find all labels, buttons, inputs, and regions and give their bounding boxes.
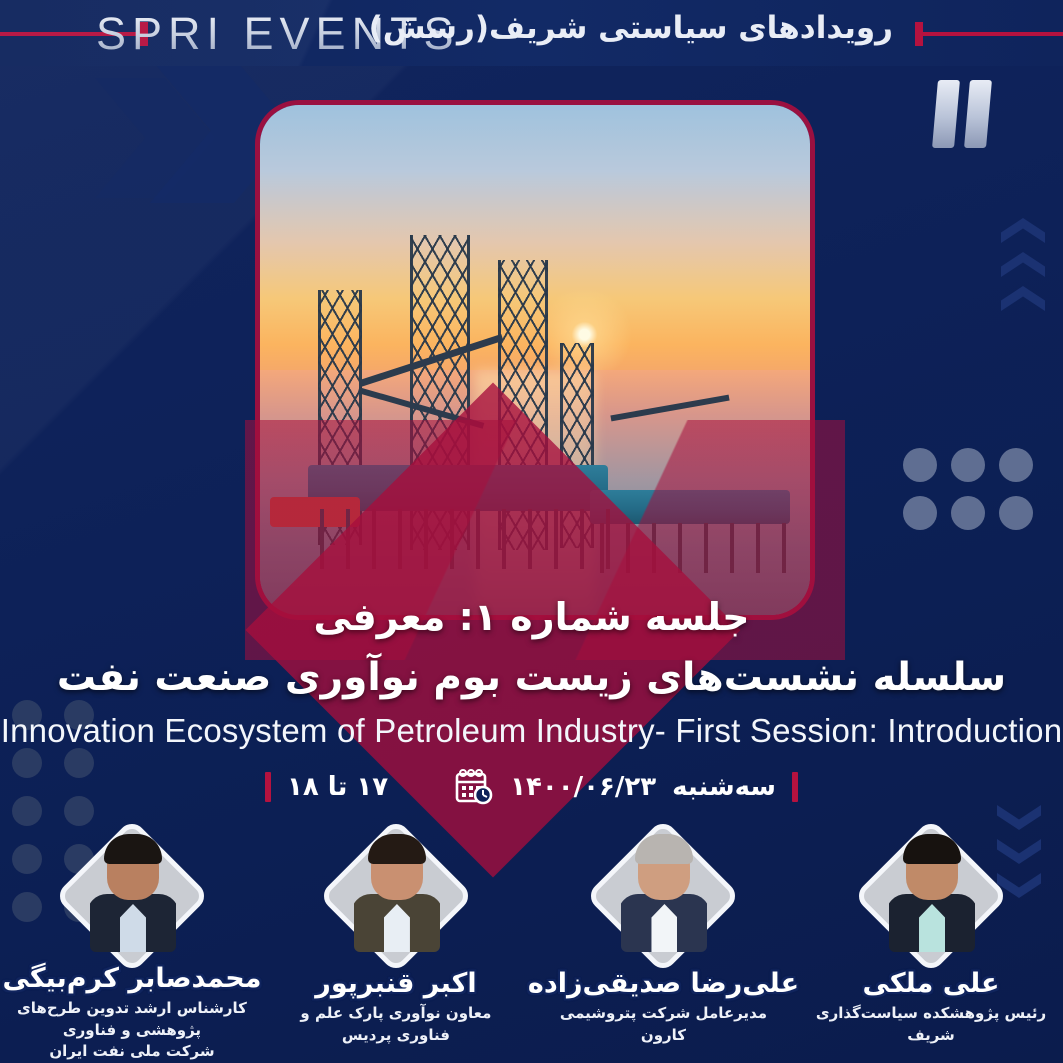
speaker-role-line1: معاون نوآوری پارک علم و فناوری پردیس [272,1003,520,1047]
poster-header: SPRI EVENTS رویدادهای سیاستی شریف(رسش) [0,0,1063,66]
avatar [597,830,729,962]
speaker-card: علی‌رضا صدیقی‌زاده مدیرعامل شرکت پتروشیم… [528,828,799,1063]
header-tick-right [915,22,923,46]
chevrons-up-icon [1001,218,1045,311]
speaker-name: علی‌رضا صدیقی‌زاده [528,968,799,999]
speakers-row: محمدصابر کرم‌بیگی کارشناس ارشد تدوین طرح… [0,828,1063,1063]
speaker-card: اکبر قنبرپور معاون نوآوری پارک علم و فنا… [264,828,528,1063]
meta-divider-left [265,772,271,802]
speaker-role: کارشناس ارشد تدوین طرح‌های پژوهشی و فناو… [0,998,264,1063]
speaker-role: مدیرعامل شرکت پتروشیمی کارون [528,1003,799,1047]
event-date: ۱۴۰۰/۰۶/۲۳ [510,772,656,802]
page-title: سلسله نشست‌های زیست بوم نوآوری صنعت نفت [0,654,1063,703]
avatar [330,830,462,962]
event-time: ۱۷ تا ۱۸ [287,772,388,802]
speaker-role-line1: کارشناس ارشد تدوین طرح‌های پژوهشی و فناو… [8,998,256,1042]
speaker-role: رئیس پژوهشکده سیاست‌گذاری شریف [799,1003,1063,1047]
meta-divider-right [792,772,798,802]
event-poster: SPRI EVENTS رویدادهای سیاستی شریف(رسش) [0,0,1063,1063]
dot-grid-icon-right [903,448,1033,530]
event-weekday: سه‌شنبه [672,772,776,802]
avatar [865,830,997,962]
speaker-name: اکبر قنبرپور [315,968,476,999]
title-block: جلسه شماره ۱: معرفی سلسله نشست‌های زیست … [0,594,1063,750]
avatar [66,830,198,957]
event-meta: سه‌شنبه ۱۴۰۰/۰۶/۲۳ ۱۷ تا ۱۸ [0,768,1063,806]
speaker-role-line1: رئیس پژوهشکده سیاست‌گذاری شریف [807,1003,1055,1047]
session-title: جلسه شماره ۱: معرفی [0,594,1063,642]
speaker-role-line1: مدیرعامل شرکت پتروشیمی کارون [536,1003,791,1047]
calendar-clock-icon [454,768,494,806]
speaker-role: معاون نوآوری پارک علم و فناوری پردیس [264,1003,528,1047]
speaker-role-line2: شرکت ملی نفت ایران [8,1041,256,1063]
speaker-card: محمدصابر کرم‌بیگی کارشناس ارشد تدوین طرح… [0,828,264,1063]
brand-title-fa: رویدادهای سیاستی شریف(رسش) [369,10,893,46]
page-title-en: Innovation Ecosystem of Petroleum Indust… [0,712,1063,750]
speaker-name: علی ملکی [863,968,1000,999]
header-rule-right [915,32,1063,36]
quote-mark-icon [935,80,997,152]
speaker-card: علی ملکی رئیس پژوهشکده سیاست‌گذاری شریف [799,828,1063,1063]
